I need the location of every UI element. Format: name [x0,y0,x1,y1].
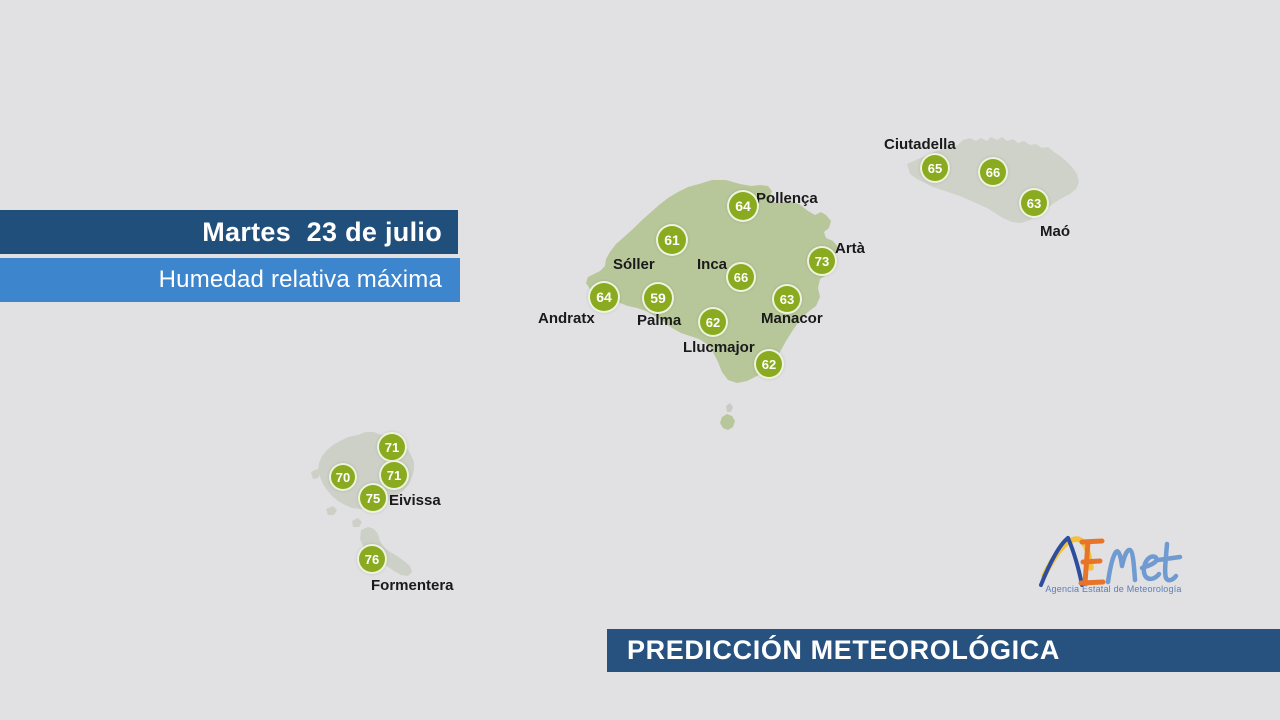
banner-label: PREDICCIÓN METEOROLÓGICA [627,635,1060,666]
city-label-inca: Inca [697,256,727,273]
station-value-marker[interactable]: 65 [920,153,950,183]
city-label-eivissa: Eivissa [389,492,441,509]
logo-letter-a-leg [1068,538,1082,585]
city-label-andratx: Andratx [538,310,595,327]
balearic-islands-map [0,0,1280,720]
city-label-palma: Palma [637,312,681,329]
island-eivissa-islet-sw [326,506,337,515]
logo-letter-m [1108,550,1135,582]
island-formentera-islet [352,518,362,527]
date-banner: Martes 23 de julio [0,210,458,254]
city-label-formentera: Formentera [371,577,454,594]
variable-banner: Humedad relativa máxima [0,258,460,302]
station-value-marker[interactable]: 64 [588,281,620,313]
station-value-marker[interactable]: 76 [357,544,387,574]
station-value-marker[interactable]: 75 [358,483,388,513]
aemet-logo-subtitle: Agencia Estatal de Meteorología [1031,584,1196,594]
city-label-art-: Artà [835,240,865,257]
bottom-banner: PREDICCIÓN METEOROLÓGICA [607,629,1280,672]
city-label-ma-: Maó [1040,223,1070,240]
station-value-marker[interactable]: 62 [754,349,784,379]
station-value-marker[interactable]: 71 [379,460,409,490]
city-label-ciutadella: Ciutadella [884,136,956,153]
station-value-marker[interactable]: 59 [642,282,674,314]
city-label-s-ller: Sóller [613,256,655,273]
station-value-marker[interactable]: 63 [772,284,802,314]
station-value-marker[interactable]: 61 [656,224,688,256]
logo-letter-t [1158,544,1180,580]
weather-map-screen: Martes 23 de julio Humedad relativa máxi… [0,0,1280,720]
station-value-marker[interactable]: 66 [978,157,1008,187]
variable-label: Humedad relativa máxima [159,266,442,294]
station-value-marker[interactable]: 63 [1019,188,1049,218]
station-value-marker[interactable]: 70 [329,463,357,491]
station-value-marker[interactable]: 66 [726,262,756,292]
island-cabrera-islet [726,403,733,412]
station-value-marker[interactable]: 64 [727,190,759,222]
station-value-marker[interactable]: 71 [377,432,407,462]
island-cabrera [720,414,735,430]
date-label: Martes 23 de julio [202,217,442,248]
station-value-marker[interactable]: 62 [698,307,728,337]
station-value-marker[interactable]: 73 [807,246,837,276]
city-label-pollen-a: Pollença [756,190,818,207]
city-label-llucmajor: Llucmajor [683,339,755,356]
